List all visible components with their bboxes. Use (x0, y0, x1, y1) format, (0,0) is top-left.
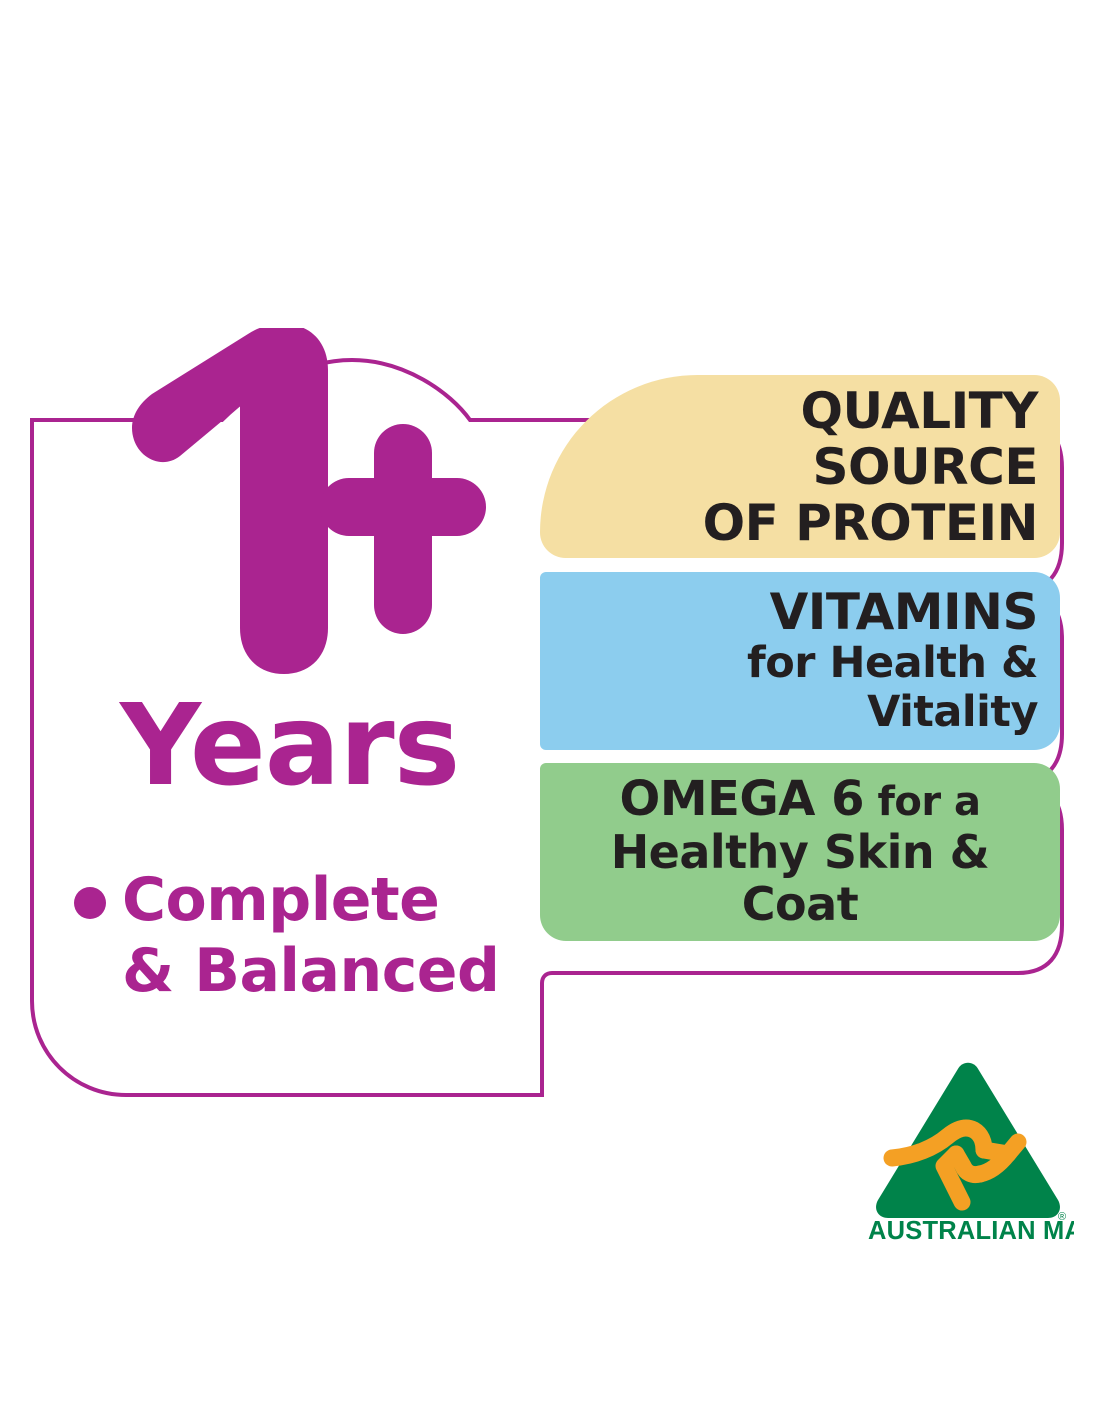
badge-left-column: Years Complete & Balanced (30, 320, 540, 1120)
vitamins-line-1: VITAMINS (770, 585, 1038, 639)
bullet-dot-icon (74, 887, 106, 919)
fact-box-omega-6: OMEGA 6 for a Healthy Skin & Coat (540, 763, 1060, 941)
badge-canvas: Years Complete & Balanced QUALITY SOURCE… (0, 0, 1100, 1422)
fact-box-vitamins: VITAMINS for Health & Vitality (540, 572, 1060, 750)
australian-made-wordmark: AUSTRALIAN MADE (868, 1217, 1074, 1242)
omega-rest: for a (864, 779, 980, 825)
age-number-graphic (62, 328, 522, 688)
claim-line-2: & Balanced (122, 936, 499, 1006)
fact-box-quality-source-of-protein: QUALITY SOURCE OF PROTEIN (540, 375, 1060, 558)
omega-strong: OMEGA 6 (620, 771, 865, 827)
australian-made-logo: AUSTRALIAN MADE ® (862, 1042, 1074, 1242)
omega-line-2: Healthy Skin & Coat (560, 826, 1040, 931)
protein-line-2: OF PROTEIN (703, 495, 1038, 551)
omega-line-1: OMEGA 6 for a (620, 773, 981, 826)
pet-food-feature-badge: Years Complete & Balanced QUALITY SOURCE… (0, 320, 1100, 1120)
vitamins-line-2: for Health & Vitality (580, 639, 1038, 737)
badge-fact-boxes: QUALITY SOURCE OF PROTEIN VITAMINS for H… (540, 320, 1060, 940)
complete-balanced-claim: Complete & Balanced (74, 865, 544, 1007)
claim-line-1: Complete (122, 865, 439, 935)
protein-line-1: QUALITY SOURCE (580, 383, 1038, 495)
age-unit-label: Years (120, 690, 540, 802)
green-triangle-shape (876, 1063, 1060, 1218)
registered-mark-icon: ® (1058, 1211, 1066, 1223)
